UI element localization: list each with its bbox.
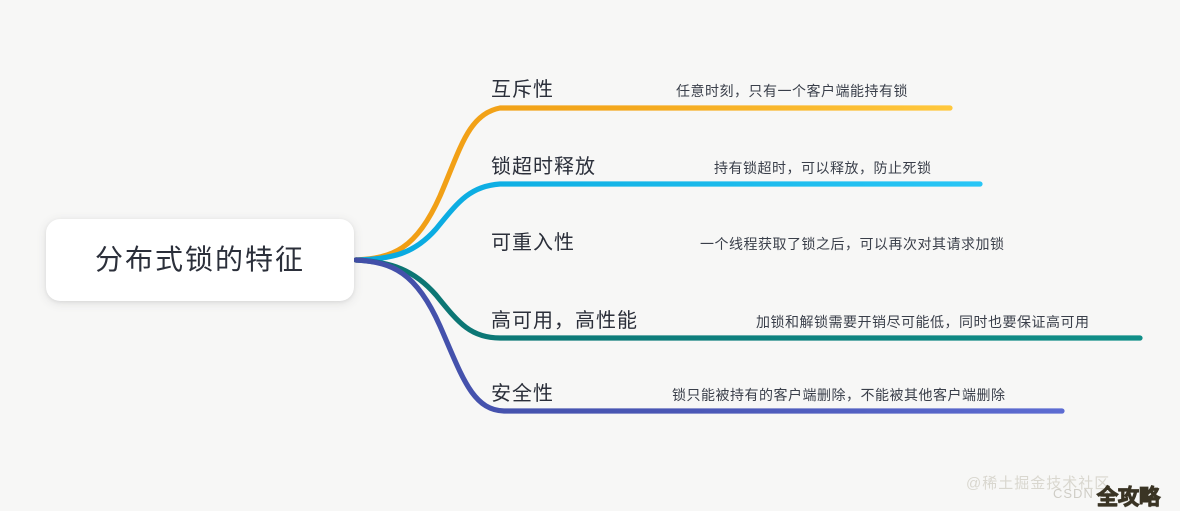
branch-title-high-availability-performance: 高可用，高性能: [491, 311, 638, 331]
branch-description-safety: 锁只能被持有的客户端删除，不能被其他客户端删除: [672, 388, 1006, 402]
branch-description-high-availability-performance: 加锁和解锁需要开销尽可能低，同时也要保证高可用: [756, 315, 1090, 329]
branch-title-mutual-exclusion: 互斥性: [491, 80, 554, 100]
branch-description-reentrancy: 一个线程获取了锁之后，可以再次对其请求加锁: [700, 237, 1005, 251]
root-node[interactable]: 分布式锁的特征: [46, 219, 354, 301]
branch-description-mutual-exclusion: 任意时刻，只有一个客户端能持有锁: [676, 84, 908, 98]
branch-description-lock-timeout-release: 持有锁超时，可以释放，防止死锁: [714, 161, 932, 175]
root-node-label: 分布式锁的特征: [95, 246, 305, 274]
branch-title-reentrancy: 可重入性: [491, 233, 575, 253]
branch-title-lock-timeout-release: 锁超时释放: [491, 157, 596, 177]
mindmap-canvas: 分布式锁的特征 互斥性 任意时刻，只有一个客户端能持有锁 锁超时释放 持有锁超时…: [0, 0, 1180, 511]
branch-title-safety: 安全性: [491, 384, 554, 404]
watermark-brand: 全攻略: [1097, 481, 1160, 511]
